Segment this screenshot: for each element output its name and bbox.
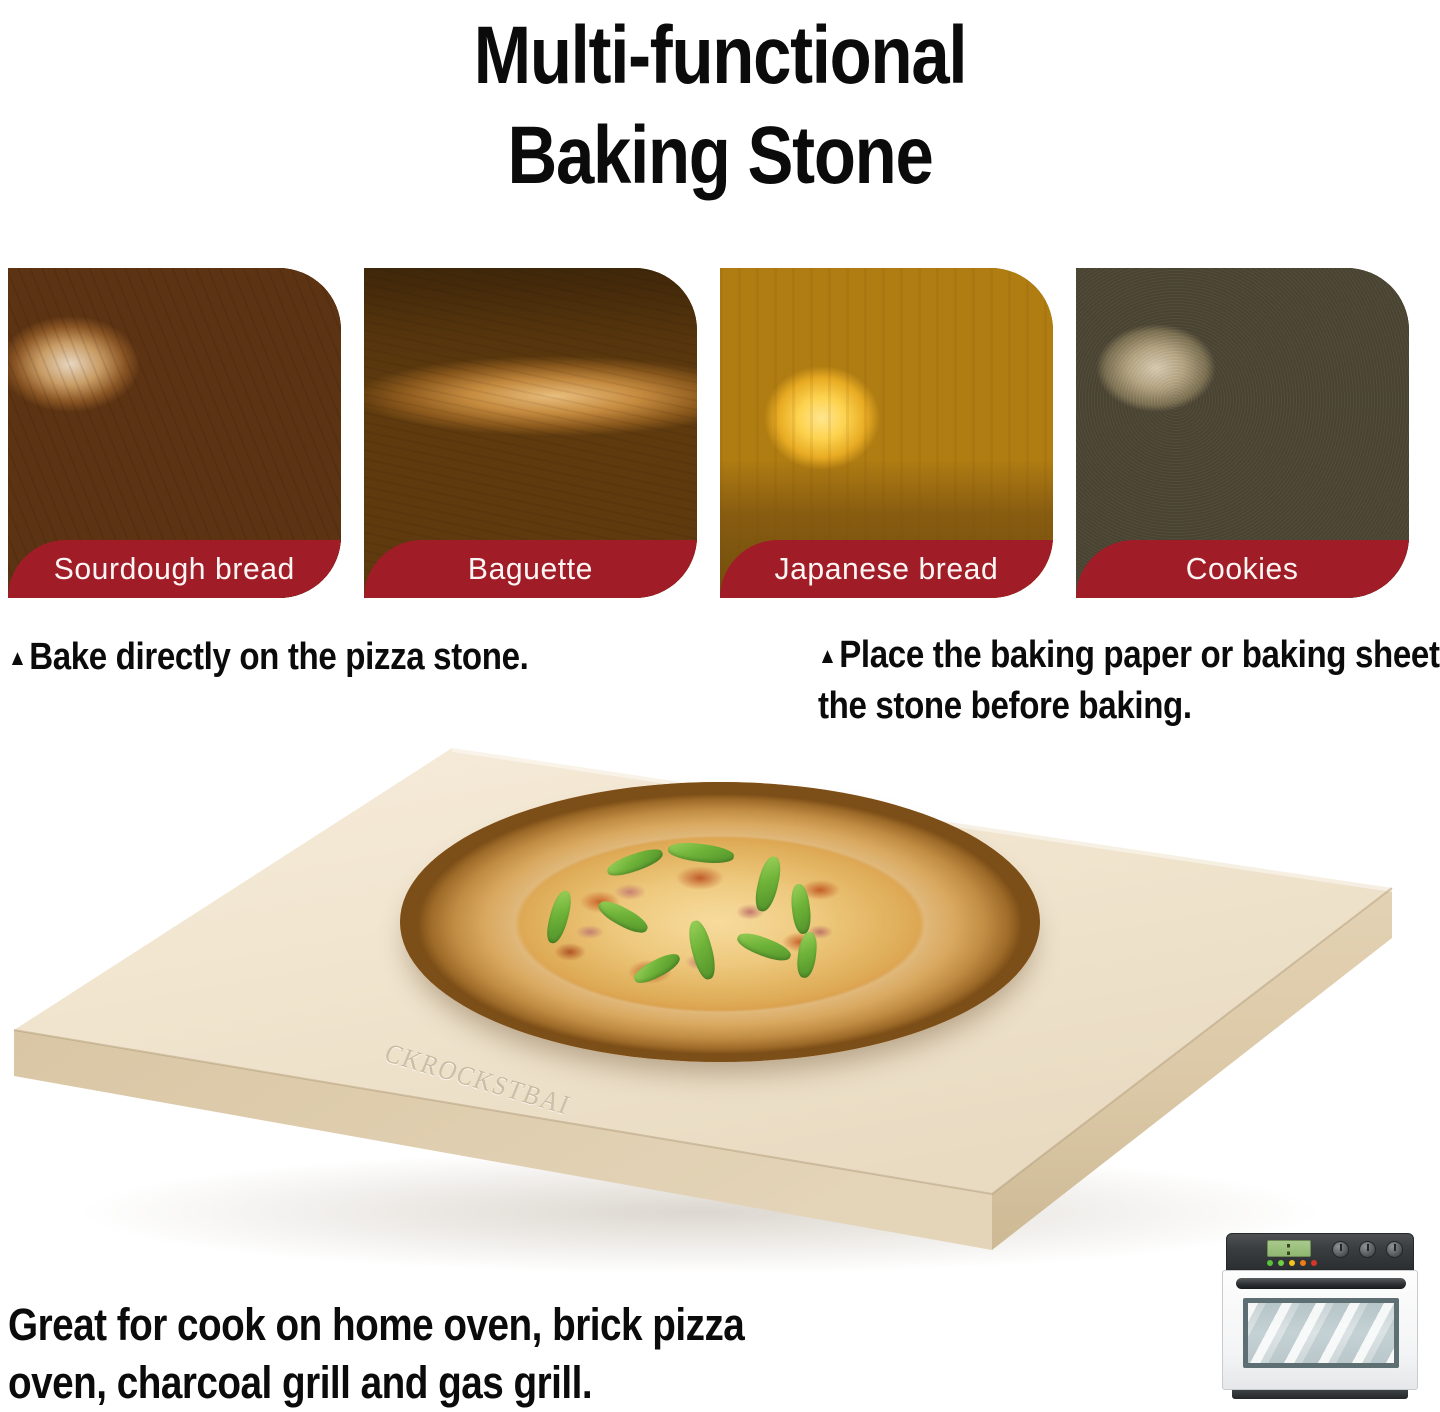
use-case-card-sourdough: Sourdough bread <box>8 268 341 598</box>
card-label-text: Sourdough bread <box>54 551 295 587</box>
baked-pizza <box>400 782 1040 1062</box>
use-case-card-japanese-bread: Japanese bread <box>720 268 1053 598</box>
card-label-cookies: Cookies <box>1076 540 1409 598</box>
home-oven-icon <box>1222 1233 1418 1403</box>
pizza-baking-stone: CKROCKSTBAI <box>0 742 1440 1282</box>
page-title: Multi-functional Baking Stone <box>0 0 1440 206</box>
oven-window-icon <box>1243 1298 1399 1368</box>
hero-product-photo: CKROCKSTBAI <box>0 742 1440 1282</box>
card-label-japanese-bread: Japanese bread <box>720 540 1053 598</box>
card-label-baguette: Baguette <box>364 540 697 598</box>
card-label-sourdough: Sourdough bread <box>8 540 341 598</box>
caption-left-text: Bake directly on the pizza stone. <box>29 636 528 678</box>
use-case-card-baguette: Baguette <box>364 268 697 598</box>
page-title-line-1: Multi-functional <box>115 6 1325 106</box>
oven-control-panel <box>1226 1233 1414 1270</box>
footer-text: Great for cook on home oven, brick pizza… <box>8 1296 825 1412</box>
use-case-card-cookies: Cookies <box>1076 268 1409 598</box>
caption-right: ▲Place the baking paper or baking sheet … <box>818 630 1440 731</box>
oven-display-icon <box>1267 1240 1311 1257</box>
oven-knobs <box>1332 1241 1403 1258</box>
oven-handle-icon <box>1236 1278 1406 1289</box>
card-label-text: Cookies <box>1186 551 1299 587</box>
triangle-marker-icon: ▲ <box>818 643 837 668</box>
triangle-marker-icon: ▲ <box>8 645 27 670</box>
card-label-text: Baguette <box>468 551 593 587</box>
caption-right-text: Place the baking paper or baking sheet o… <box>818 634 1440 727</box>
caption-left: ▲Bake directly on the pizza stone. <box>8 632 721 683</box>
use-case-card-row: Sourdough bread Baguette Japanese bread … <box>8 268 1432 598</box>
pizza-toppings <box>400 782 1040 1062</box>
oven-indicator-lights <box>1267 1260 1317 1266</box>
oven-door <box>1222 1270 1418 1390</box>
page-title-line-2: Baking Stone <box>115 106 1325 206</box>
oven-base <box>1232 1390 1408 1399</box>
card-label-text: Japanese bread <box>775 551 999 587</box>
